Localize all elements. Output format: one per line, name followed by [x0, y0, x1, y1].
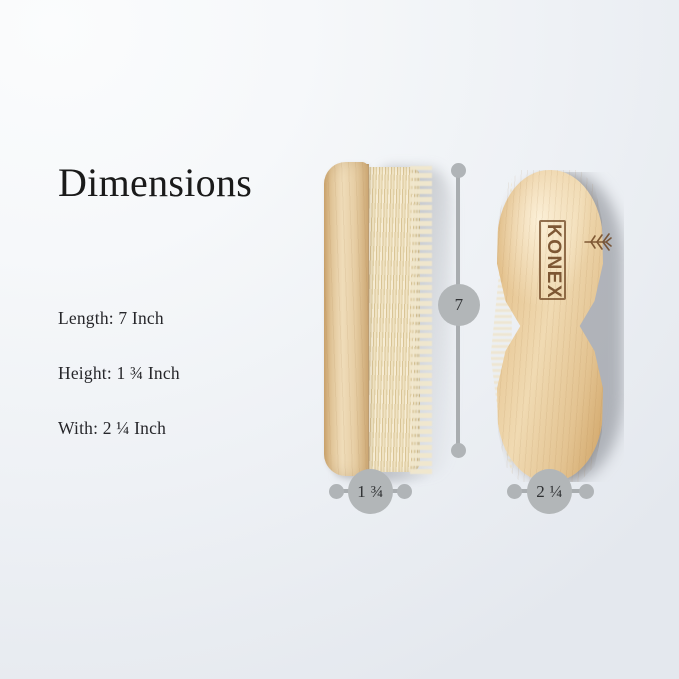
spec-length: Length: 7 Inch: [58, 308, 164, 329]
side-view-bristle-tips: [410, 166, 432, 474]
measure-label-width: 2 ¼: [527, 469, 572, 514]
measure-endpoint-height-left: [329, 484, 344, 499]
brand-name: KONEX: [539, 220, 566, 300]
measure-endpoint-width-right: [579, 484, 594, 499]
product-dimensions-infographic: Dimensions Length: 7 Inch Height: 1 ¾ In…: [0, 0, 679, 679]
page-title: Dimensions: [58, 163, 252, 203]
measure-endpoint-length-top: [451, 163, 466, 178]
brush-top-view-image: KONEX: [480, 160, 630, 490]
measure-label-length: 7: [438, 284, 480, 326]
measure-endpoint-length-bottom: [451, 443, 466, 458]
side-view-wooden-handle: [324, 162, 368, 476]
brand-logo: KONEX: [492, 226, 600, 286]
measure-label-height: 1 ¾: [348, 469, 393, 514]
measure-endpoint-height-right: [397, 484, 412, 499]
measure-endpoint-width-left: [507, 484, 522, 499]
spec-width: With: 2 ¼ Inch: [58, 418, 166, 439]
pinecone-leaf-icon: [584, 229, 614, 255]
spec-height: Height: 1 ¾ Inch: [58, 363, 180, 384]
brush-side-view-image: [318, 162, 458, 482]
